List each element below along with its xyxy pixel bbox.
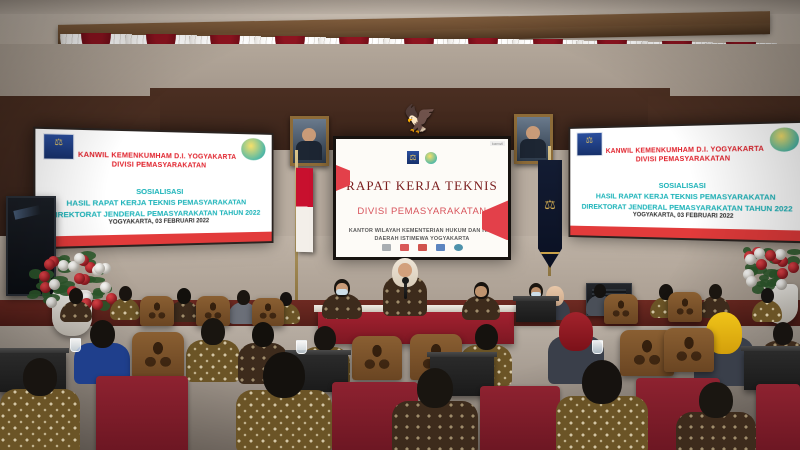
footer-logo-icon xyxy=(454,244,463,251)
slide-watermark: kanwil xyxy=(490,141,505,146)
person-face xyxy=(398,263,412,278)
audience-person xyxy=(676,382,756,450)
footer-logo-icon xyxy=(400,244,409,251)
person-torso xyxy=(322,294,362,319)
red-flower xyxy=(756,259,767,270)
person-head xyxy=(90,320,115,348)
person-head xyxy=(773,322,793,345)
red-flower xyxy=(788,262,799,273)
person-head xyxy=(201,318,225,345)
person-head xyxy=(119,286,132,301)
table-top xyxy=(741,346,800,351)
white-flower xyxy=(46,297,57,308)
red-flower xyxy=(44,259,55,270)
portrait-head xyxy=(302,128,316,142)
pemasyarakatan-logo-icon xyxy=(425,152,437,164)
person-torso xyxy=(236,390,332,450)
red-chair xyxy=(480,386,560,450)
hijab xyxy=(559,312,593,351)
male-panelist-right xyxy=(462,282,500,320)
foliage xyxy=(787,249,800,255)
slide-center: kanwil ⚖ RAPAT KERJA TEKNIS DIVISI PEMAS… xyxy=(336,139,508,257)
person-face xyxy=(475,286,487,297)
kemenkumham-logo-icon: ⚖ xyxy=(577,132,603,156)
slide-header-line2: DIVISI PEMASYARAKATAN xyxy=(78,159,236,170)
footer-logo-icon xyxy=(418,244,427,251)
person-head xyxy=(417,368,453,408)
slide-org-line2: DAERAH ISTIMEWA YOGYAKARTA xyxy=(349,235,495,243)
conference-room-photo: 🦅 ⚖ ⚖ KANWIL KEMENKUMHAM D.I. YOGYAKARTA… xyxy=(0,0,800,450)
foliage xyxy=(767,279,776,287)
slide-right: ⚖ KANWIL KEMENKUMHAM D.I. YOGYAKARTA DIV… xyxy=(570,123,800,241)
person-head xyxy=(252,322,274,347)
water-cup xyxy=(592,340,603,354)
person-head xyxy=(69,288,83,304)
person-head xyxy=(475,324,498,350)
slide-logo-row: ⚖ xyxy=(407,151,437,164)
person-torso xyxy=(0,389,80,450)
person-torso xyxy=(462,296,500,320)
audience-person xyxy=(556,360,648,450)
footer-logo-icon xyxy=(382,244,391,251)
person-torso xyxy=(392,401,478,450)
slide-subtitle: DIVISI PEMASYARAKATAN xyxy=(357,206,486,217)
audience-person xyxy=(392,368,478,450)
slide-body: SOSIALISASI HASIL RAPAT KERJA TEKNIS PEM… xyxy=(49,186,260,221)
table-top xyxy=(513,296,559,301)
institutional-banner: ⚖ xyxy=(538,160,562,268)
carved-wooden-chair xyxy=(604,294,638,324)
person-torso xyxy=(556,396,648,450)
person-head xyxy=(314,326,336,351)
audience-person xyxy=(236,352,332,450)
slide-header-line2: DIVISI PEMASYARAKATAN xyxy=(606,153,764,164)
water-cup xyxy=(70,338,81,352)
kemenkumham-logo-icon: ⚖ xyxy=(407,151,419,164)
portrait-body xyxy=(520,139,546,158)
carved-wooden-chair xyxy=(132,332,184,378)
carved-wooden-chair xyxy=(664,328,714,372)
red-flower xyxy=(74,273,85,284)
audience-person xyxy=(752,288,782,322)
projection-screen-left: ⚖ KANWIL KEMENKUMHAM D.I. YOGYAKARTA DIV… xyxy=(33,127,273,250)
portrait-head xyxy=(526,126,540,140)
slide-header: KANWIL KEMENKUMHAM D.I. YOGYAKARTA DIVIS… xyxy=(606,144,764,164)
foliage xyxy=(29,290,41,297)
audience-person xyxy=(110,286,140,320)
slide-org-line1: KANTOR WILAYAH KEMENTERIAN HUKUM DAN HAM xyxy=(349,227,495,235)
indonesian-flag xyxy=(296,168,313,253)
table-top xyxy=(0,348,69,353)
person-head xyxy=(594,284,606,298)
white-flower xyxy=(745,254,756,265)
person-torso xyxy=(186,340,240,382)
person-head xyxy=(709,284,722,299)
monitor-glare xyxy=(13,205,40,220)
carved-wooden-chair xyxy=(140,296,174,326)
projection-screen-center: kanwil ⚖ RAPAT KERJA TEKNIS DIVISI PEMAS… xyxy=(333,136,511,260)
audience-person xyxy=(0,358,80,450)
person-head xyxy=(699,382,733,418)
person-torso xyxy=(110,298,140,320)
slide-title: RAPAT KERJA TEKNIS xyxy=(346,178,498,194)
person-torso xyxy=(60,301,92,322)
slide-left: ⚖ KANWIL KEMENKUMHAM D.I. YOGYAKARTA DIV… xyxy=(35,129,271,247)
table-top xyxy=(427,352,497,357)
pemasyarakatan-logo-icon xyxy=(242,138,266,160)
red-chair xyxy=(96,376,188,450)
banner-emblem-icon: ⚖ xyxy=(543,196,557,214)
white-flower xyxy=(74,253,85,264)
slide-footer-logos xyxy=(336,244,508,251)
slide-header: KANWIL KEMENKUMHAM D.I. YOGYAKARTA DIVIS… xyxy=(78,150,236,170)
person-head xyxy=(263,352,305,398)
footer-logo-icon xyxy=(436,244,445,251)
person-head xyxy=(23,358,57,396)
kemenkumham-logo-icon: ⚖ xyxy=(43,134,74,160)
slide-body: SOSIALISASI HASIL RAPAT KERJA TEKNIS PEM… xyxy=(582,180,793,215)
pemasyarakatan-logo-icon xyxy=(770,128,798,152)
face-mask xyxy=(336,289,348,295)
person-head xyxy=(582,360,622,404)
male-panelist-left xyxy=(322,279,362,319)
white-flower xyxy=(746,276,757,287)
banner-fringe xyxy=(538,252,562,254)
person-torso xyxy=(752,300,782,322)
slide-org: KANTOR WILAYAH KEMENTERIAN HUKUM DAN HAM… xyxy=(349,227,495,243)
red-flower xyxy=(777,268,788,279)
projection-screen-right: ⚖ KANWIL KEMENKUMHAM D.I. YOGYAKARTA DIV… xyxy=(569,121,800,244)
white-flower xyxy=(775,249,786,260)
audience-person xyxy=(60,288,92,322)
red-flower xyxy=(92,299,103,310)
person-head xyxy=(237,290,250,305)
portrait-body xyxy=(296,141,322,160)
audience-person xyxy=(186,318,240,382)
garuda-pancasila-icon: 🦅 xyxy=(398,104,442,134)
red-chair xyxy=(756,384,800,450)
person-head xyxy=(177,288,191,304)
handheld-microphone xyxy=(404,282,407,299)
person-head xyxy=(761,288,774,303)
audience-person xyxy=(74,320,130,384)
